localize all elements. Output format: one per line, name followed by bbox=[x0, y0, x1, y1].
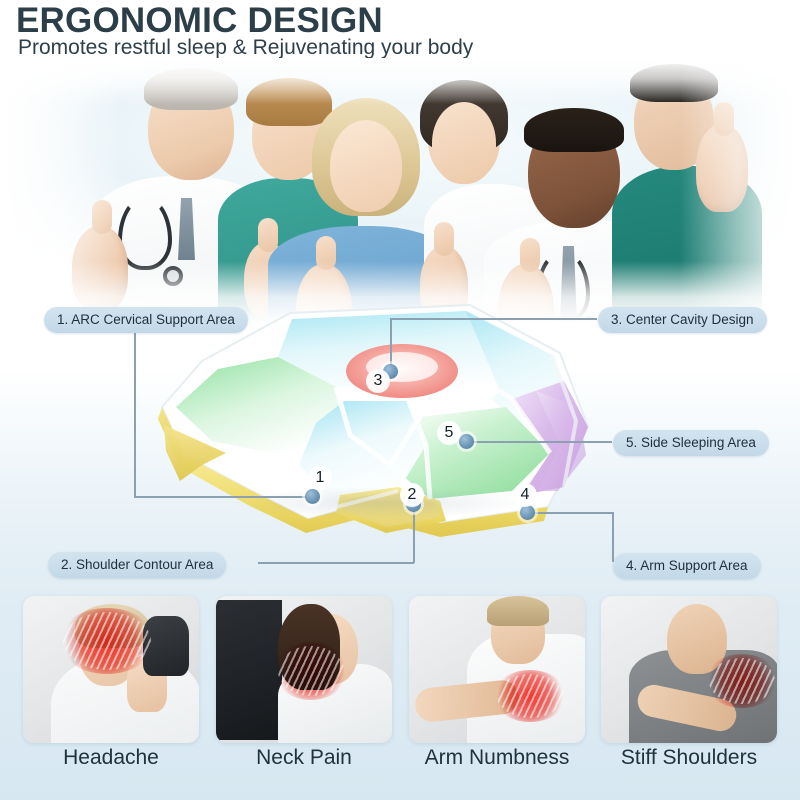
marker-number-5: 5 bbox=[437, 421, 461, 445]
leader-line-4-horizontal bbox=[533, 512, 613, 514]
callout-pill-5[interactable]: 5. Side Sleeping Area bbox=[613, 430, 769, 456]
page-title: ERGONOMIC DESIGN bbox=[16, 1, 383, 41]
leader-line-4-vertical bbox=[612, 512, 614, 562]
leader-line-5-horizontal bbox=[470, 441, 612, 443]
pain-card-label-neck-pain: Neck Pain bbox=[216, 746, 392, 770]
marker-number-3: 3 bbox=[366, 369, 390, 393]
callout-pill-3[interactable]: 3. Center Cavity Design bbox=[598, 307, 767, 333]
pain-cards-row: Headache Neck Pain Arm Numbness bbox=[0, 596, 800, 800]
pain-card-label-stiff-shoulders: Stiff Shoulders bbox=[601, 746, 777, 770]
pain-card-label-arm-numbness: Arm Numbness bbox=[409, 746, 585, 770]
marker-dot-5[interactable] bbox=[459, 434, 474, 449]
callout-pill-2[interactable]: 2. Shoulder Contour Area bbox=[48, 552, 226, 578]
marker-dot-1[interactable] bbox=[305, 489, 320, 504]
pain-streaks bbox=[278, 646, 344, 696]
pain-streaks bbox=[709, 658, 775, 704]
medical-team-photo bbox=[0, 58, 800, 323]
callout-pill-4[interactable]: 4. Arm Support Area bbox=[613, 553, 761, 579]
pain-card-neck-pain[interactable] bbox=[216, 596, 392, 743]
infographic-page: ERGONOMIC DESIGN Promotes restful sleep … bbox=[0, 0, 800, 800]
pain-streaks bbox=[63, 612, 151, 670]
pain-card-headache[interactable] bbox=[23, 596, 199, 743]
leader-line-3-horizontal bbox=[390, 318, 597, 320]
pain-streaks bbox=[497, 674, 563, 718]
page-subtitle: Promotes restful sleep & Rejuvenating yo… bbox=[18, 36, 473, 60]
marker-number-2: 2 bbox=[400, 483, 424, 507]
marker-dot-4[interactable] bbox=[520, 505, 535, 520]
marker-number-1: 1 bbox=[308, 466, 332, 490]
leader-line-2-horizontal bbox=[258, 562, 414, 564]
pain-card-label-headache: Headache bbox=[23, 746, 199, 770]
pain-card-arm-numbness[interactable] bbox=[409, 596, 585, 743]
leader-line-1-horizontal bbox=[134, 496, 312, 498]
callout-pill-1[interactable]: 1. ARC Cervical Support Area bbox=[44, 307, 248, 333]
marker-number-4: 4 bbox=[513, 483, 537, 507]
leader-line-2-vertical bbox=[413, 504, 415, 563]
pain-card-stiff-shoulders[interactable] bbox=[601, 596, 777, 743]
leader-line-1-vertical bbox=[134, 330, 136, 497]
